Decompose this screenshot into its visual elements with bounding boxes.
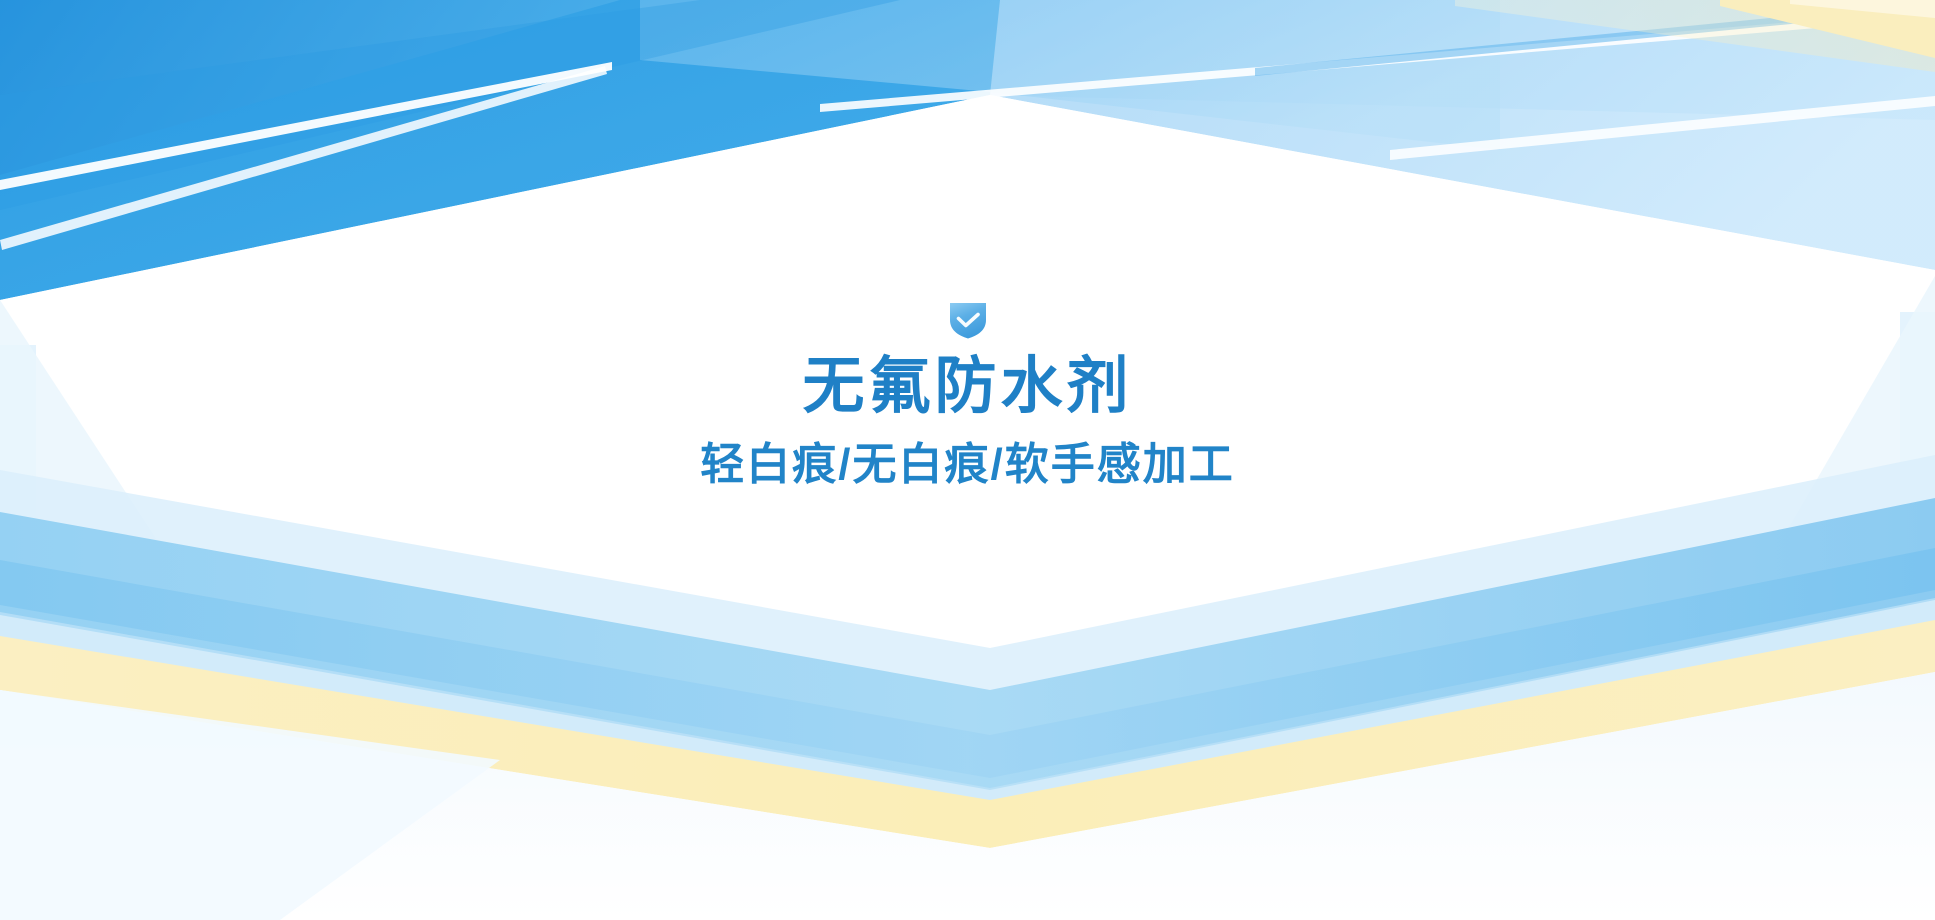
shield-check-icon xyxy=(947,300,989,340)
shield-check-glyph xyxy=(947,300,989,340)
page-title: 无氟防水剂 xyxy=(802,354,1132,419)
hero-banner: 无氟防水剂 轻白痕/无白痕/软手感加工 xyxy=(0,0,1935,920)
page-subtitle: 轻白痕/无白痕/软手感加工 xyxy=(700,441,1234,489)
